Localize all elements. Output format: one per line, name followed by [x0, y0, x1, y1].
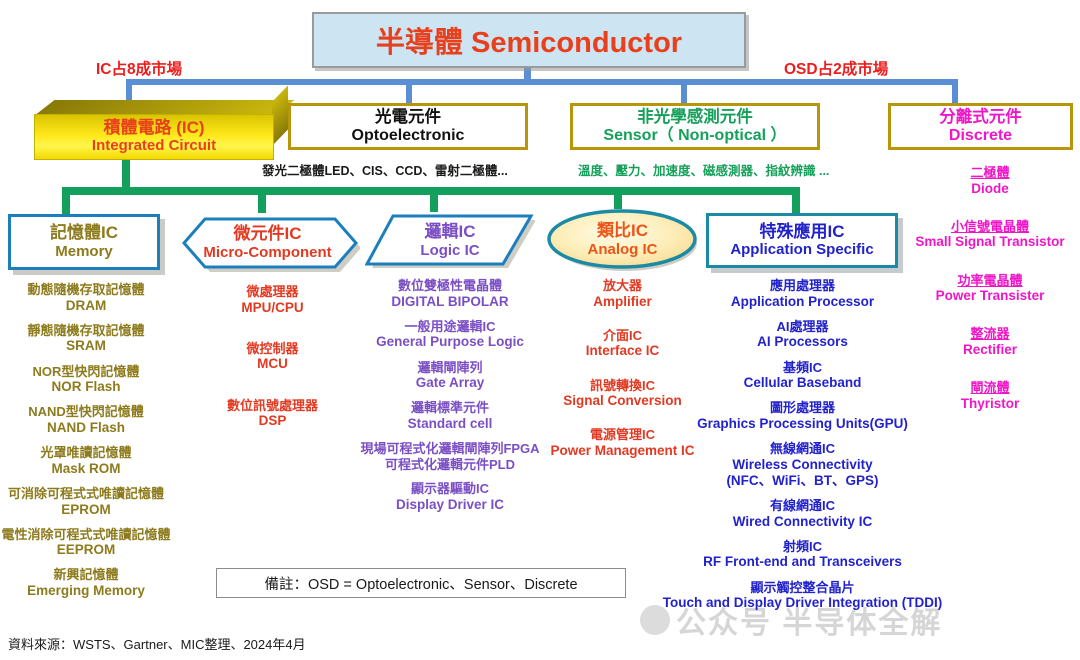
- label-ic-market-share: IC占8成市場: [96, 57, 182, 79]
- page-title: 半導體 Semiconductor: [312, 12, 746, 68]
- list-item: 電性消除可程式式唯讀記憶體EEPROM: [0, 527, 172, 559]
- ic-box-front-face: 積體電路 (IC) Integrated Circuit: [34, 114, 274, 160]
- list-item: 可消除可程式式唯讀記憶體EPROM: [0, 486, 172, 518]
- micro-component-hexagon-shape: [175, 214, 360, 272]
- connector-drop-appspec: [792, 187, 800, 213]
- optoelectronic-subtitle: 發光二極體LED、CIS、CCD、雷射二極體...: [262, 160, 508, 179]
- connector-drop-memory: [62, 187, 70, 214]
- node-memory: 記憶體IC Memory: [8, 214, 160, 270]
- label-osd-market-share: OSD占2成市場: [784, 57, 888, 79]
- node-sensor: 非光學感測元件 Sensor（ Non-optical ）: [570, 103, 820, 150]
- connector-tier2-bus: [126, 79, 958, 85]
- list-item: 光罩唯讀記憶體Mask ROM: [0, 445, 172, 477]
- node-discrete-label-en: Discrete: [949, 127, 1012, 145]
- list-item: NAND型快閃記憶體NAND Flash: [0, 404, 172, 436]
- application-specific-box-shape: [706, 213, 898, 268]
- connector-drop-discrete: [952, 79, 958, 103]
- connector-drop-ic: [126, 79, 132, 101]
- connector-drop-logic: [430, 187, 438, 212]
- list-discrete-items: 二極體Diode 小信號電晶體Small Signal Transistor 功…: [900, 165, 1080, 421]
- node-optoelectronic-label-en: Optoelectronic: [352, 127, 465, 145]
- list-item: 小信號電晶體Small Signal Transistor: [900, 219, 1080, 251]
- node-ic-label-en: Integrated Circuit: [92, 138, 216, 155]
- node-micro-component: 微元件IC Micro-Component: [175, 214, 360, 272]
- sensor-subtitle: 溫度、壓力、加速度、磁感測器、指紋辨識 ...: [578, 160, 829, 179]
- note-text: 備註：OSD = Optoelectronic、Sensor、Discrete: [264, 573, 577, 594]
- node-analog-ic: 類比IC Analog IC: [545, 208, 700, 272]
- node-discrete-label-cn: 分離式元件: [939, 108, 1022, 127]
- node-ic-label-cn: 積體電路 (IC): [103, 119, 204, 138]
- connector-drop-analog: [614, 187, 622, 209]
- list-item: 功率電晶體Power Transister: [900, 273, 1080, 305]
- node-integrated-circuit: 積體電路 (IC) Integrated Circuit: [34, 100, 274, 160]
- node-sensor-label-cn: 非光學感測元件: [637, 108, 753, 127]
- connector-drop-optoelectronic: [406, 79, 412, 104]
- connector-drop-sensor: [681, 79, 687, 103]
- list-item: 閘流體Thyristor: [900, 380, 1080, 412]
- analog-ic-ellipse-shape: [545, 208, 700, 272]
- node-optoelectronic-label-cn: 光電元件: [375, 108, 441, 127]
- list-item: 顯示觸控整合晶片Touch and Display Driver Integra…: [645, 580, 960, 612]
- memory-box-shape: [8, 214, 160, 270]
- list-memory-items: 動態隨機存取記憶體DRAM 靜態隨機存取記憶體SRAM NOR型快閃記憶體NOR…: [0, 282, 172, 608]
- connector-drop-micro: [258, 187, 266, 213]
- list-item: 新興記憶體Emerging Memory: [0, 567, 172, 599]
- note-box: 備註：OSD = Optoelectronic、Sensor、Discrete: [216, 568, 626, 598]
- node-discrete: 分離式元件 Discrete: [888, 103, 1073, 150]
- list-item: 動態隨機存取記憶體DRAM: [0, 282, 172, 314]
- list-item: 有線網通ICWired Connectivity IC: [645, 498, 960, 530]
- ic-box-side-face: [272, 85, 288, 146]
- list-item: 顯示器驅動ICDisplay Driver IC: [330, 481, 570, 513]
- list-item: 二極體Diode: [900, 165, 1080, 197]
- logic-ic-parallelogram-shape: [365, 212, 535, 270]
- node-application-specific: 特殊應用IC Application Specific: [706, 213, 898, 268]
- list-item: 射頻ICRF Front-end and Transceivers: [645, 539, 960, 571]
- node-sensor-label-en: Sensor（ Non-optical ）: [603, 127, 786, 145]
- list-item: 靜態隨機存取記憶體SRAM: [0, 323, 172, 355]
- node-logic-ic: 邏輯IC Logic IC: [365, 212, 535, 270]
- page-title-text: 半導體 Semiconductor: [376, 19, 682, 61]
- source-footer: 資料來源：WSTS、Gartner、MIC整理、2024年4月: [8, 634, 306, 653]
- list-item: 整流器Rectifier: [900, 326, 1080, 358]
- node-optoelectronic: 光電元件 Optoelectronic: [288, 103, 528, 150]
- list-item: NOR型快閃記憶體NOR Flash: [0, 364, 172, 396]
- list-item: 無線網通ICWireless Connectivity(NFC、WiFi、BT、…: [645, 441, 960, 489]
